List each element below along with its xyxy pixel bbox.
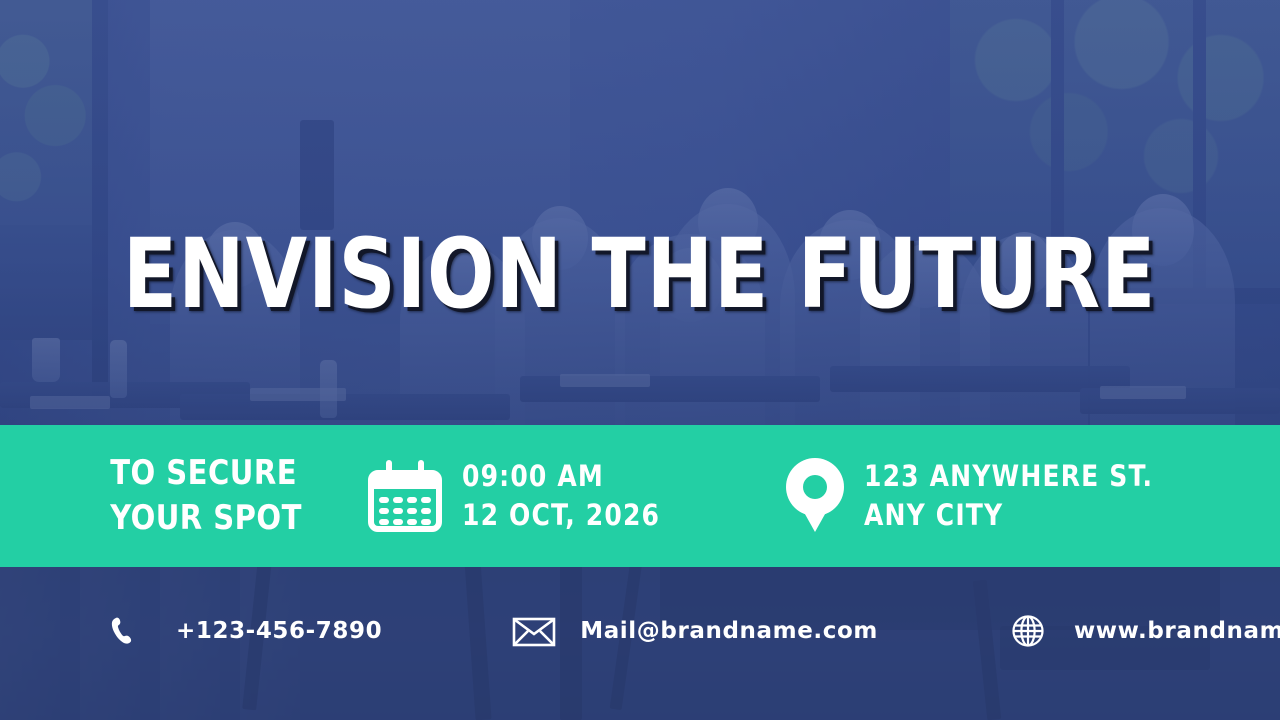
globe-icon [1006,611,1050,651]
cta-line-1: TO SECURE [110,453,297,493]
contact-website[interactable]: www.brandname.com [1006,611,1280,651]
contact-phone[interactable]: +123-456-7890 [100,611,382,651]
contact-email[interactable]: Mail@brandname.com [512,611,878,651]
location-line-2: ANY CITY [864,496,1153,535]
headline-container: ENVISION THE FUTURE [0,214,1280,334]
cta-line-2: YOUR SPOT [110,496,342,541]
calendar-icon [368,460,442,532]
map-pin-icon [786,458,844,534]
event-date-block: 09:00 AM 12 OCT, 2026 [368,457,668,535]
event-time: 09:00 AM [462,457,660,496]
event-date-text: 09:00 AM 12 OCT, 2026 [462,457,660,535]
page-title: ENVISION THE FUTURE [123,226,1156,322]
cta-text: TO SECURE YOUR SPOT [0,451,342,541]
email-address: Mail@brandname.com [580,618,878,644]
contact-footer: +123-456-7890 Mail@brandname.com [0,596,1280,666]
event-date: 12 OCT, 2026 [462,496,660,535]
event-location-text: 123 ANYWHERE ST. ANY CITY [864,457,1153,535]
website-url: www.brandname.com [1074,618,1280,644]
event-banner: ENVISION THE FUTURE TO SECURE YOUR SPOT … [0,0,1280,720]
photo-blue-overlay [0,0,1280,425]
event-info-band: TO SECURE YOUR SPOT 09:00 AM 12 OCT, 202… [0,425,1280,567]
location-line-1: 123 ANYWHERE ST. [864,457,1153,496]
phone-icon [100,611,144,651]
event-location-block: 123 ANYWHERE ST. ANY CITY [786,457,1165,535]
phone-number: +123-456-7890 [176,618,382,644]
envelope-icon [512,611,556,651]
